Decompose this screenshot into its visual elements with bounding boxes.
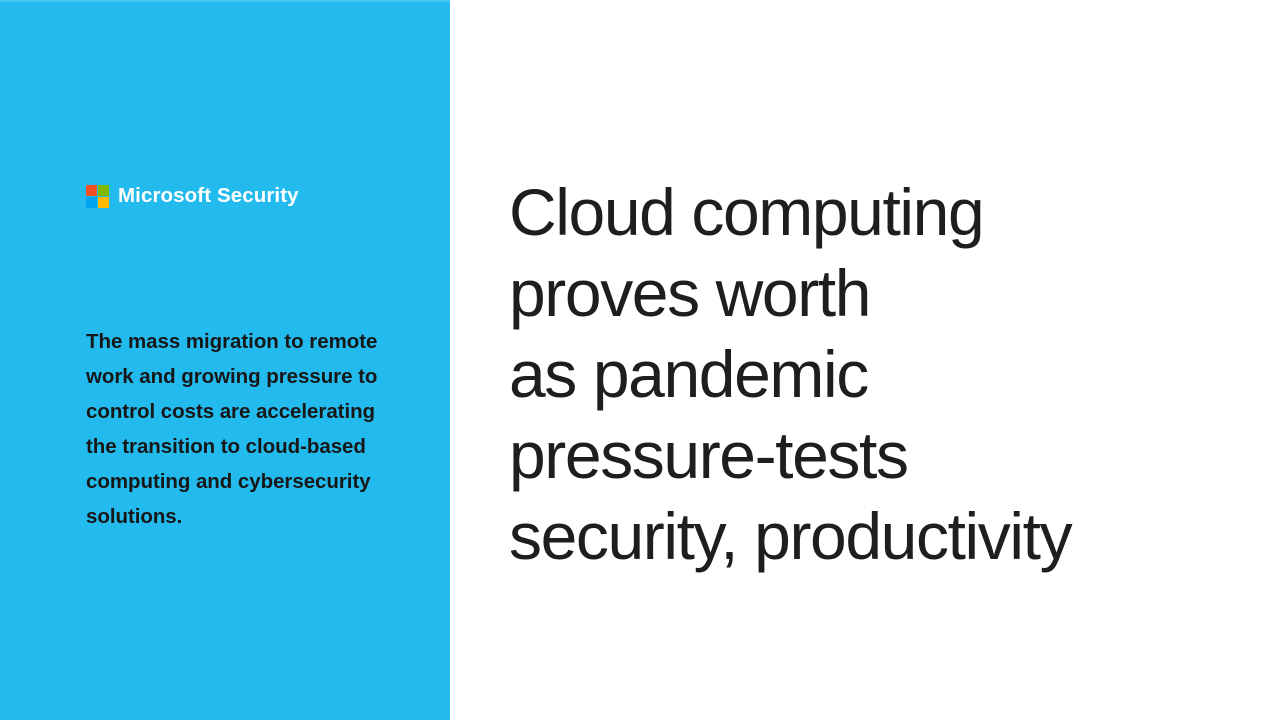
brand-name: Microsoft Security — [118, 186, 299, 207]
headline-line-2: proves worth — [509, 253, 1209, 334]
microsoft-logo-icon — [86, 185, 109, 208]
headline-line-5: security, productivity — [509, 496, 1209, 577]
logo-square-red — [86, 185, 97, 196]
logo-square-blue — [86, 197, 97, 208]
panel-top-hairline — [0, 0, 450, 2]
headline: Cloud computing proves worth as pandemic… — [509, 172, 1209, 577]
brand-lockup: Microsoft Security — [86, 183, 299, 209]
logo-square-yellow — [98, 197, 109, 208]
left-cyan-panel: Microsoft Security The mass migration to… — [0, 0, 450, 720]
logo-square-green — [98, 185, 109, 196]
deck-text-block: The mass migration to remote work and gr… — [86, 324, 404, 534]
slide-canvas: Microsoft Security The mass migration to… — [0, 0, 1280, 720]
headline-line-1: Cloud computing — [509, 172, 1209, 253]
headline-line-4: pressure-tests — [509, 415, 1209, 496]
deck-paragraph: The mass migration to remote work and gr… — [86, 324, 404, 534]
headline-line-3: as pandemic — [509, 334, 1209, 415]
